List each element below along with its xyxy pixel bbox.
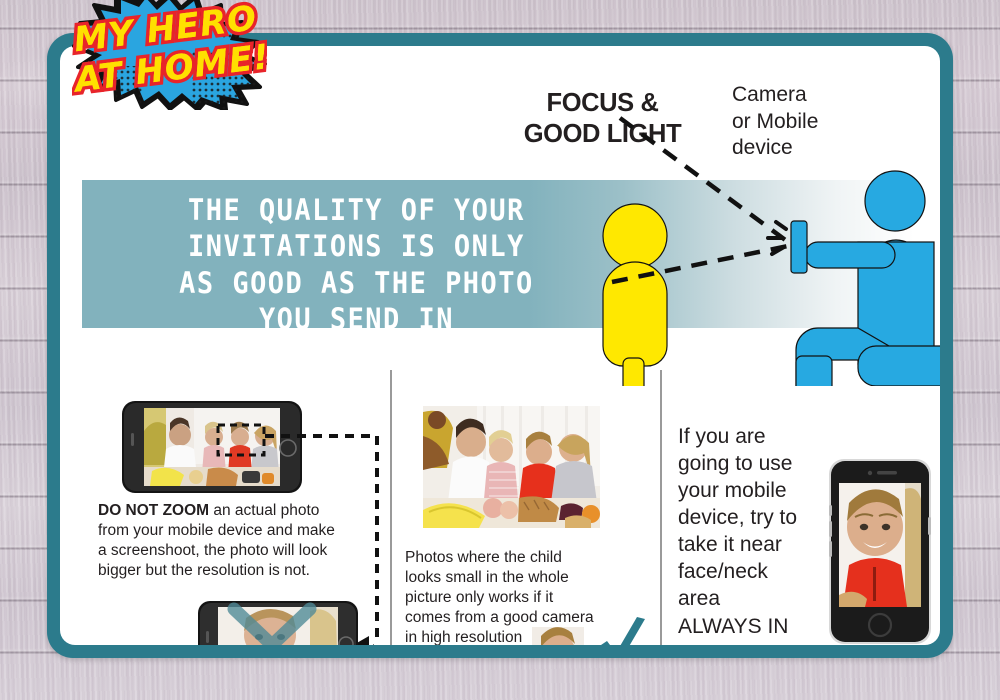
right-line-2: going to use bbox=[678, 450, 843, 477]
focus-label-line1: FOCUS & bbox=[515, 88, 690, 119]
banner-line-4: YOU SEND IN bbox=[110, 301, 603, 337]
camera-label-line3: device bbox=[732, 135, 867, 162]
infographic-card: FOCUS & GOOD LIGHT Camera or Mobile devi… bbox=[47, 33, 953, 658]
right-panel-text: If you are going to use your mobile devi… bbox=[678, 423, 843, 645]
phone-horizontal-zoomed-photo bbox=[198, 601, 358, 645]
panel-divider-2 bbox=[660, 370, 662, 645]
camera-or-mobile-device-label: Camera or Mobile device bbox=[732, 82, 867, 162]
card-sheet: FOCUS & GOOD LIGHT Camera or Mobile devi… bbox=[60, 46, 940, 645]
right-line-1: If you are bbox=[678, 423, 843, 450]
right-line-8: ALWAYS IN bbox=[678, 613, 843, 640]
do-not-zoom-emphasis: DO NOT ZOOM bbox=[98, 502, 209, 519]
middle-panel-boy-thumbnail bbox=[532, 627, 584, 645]
camera-label-line1: Camera bbox=[732, 82, 867, 109]
approved-check-icon bbox=[597, 617, 649, 645]
headline-banner-text: THE QUALITY OF YOUR INVITATIONS IS ONLY … bbox=[110, 192, 603, 338]
right-line-3: your mobile bbox=[678, 477, 843, 504]
headline-banner: THE QUALITY OF YOUR INVITATIONS IS ONLY … bbox=[82, 180, 940, 328]
focus-label-line2: GOOD LIGHT bbox=[515, 119, 690, 150]
right-line-7: area bbox=[678, 585, 843, 612]
camera-label-line2: or Mobile bbox=[732, 109, 867, 136]
banner-line-3: AS GOOD AS THE PHOTO bbox=[110, 265, 603, 301]
bottom-panels: DO NOT ZOOM an actual photo from your mo… bbox=[60, 346, 940, 645]
my-hero-at-home-logo: MY HERO MY HERO AT HOME! AT HOME! bbox=[72, 0, 267, 110]
banner-line-2: INVITATIONS IS ONLY bbox=[110, 228, 603, 264]
right-line-4: device, try to bbox=[678, 504, 843, 531]
phone-vertical-closeup-photo bbox=[829, 459, 931, 645]
right-line-6: face/neck bbox=[678, 558, 843, 585]
right-line-5: take it near bbox=[678, 531, 843, 558]
focus-and-good-light-label: FOCUS & GOOD LIGHT bbox=[515, 88, 690, 149]
banner-line-1: THE QUALITY OF YOUR bbox=[110, 192, 603, 228]
right-line-9: FOCUS bbox=[678, 640, 843, 645]
middle-panel-family-photo bbox=[423, 406, 600, 528]
